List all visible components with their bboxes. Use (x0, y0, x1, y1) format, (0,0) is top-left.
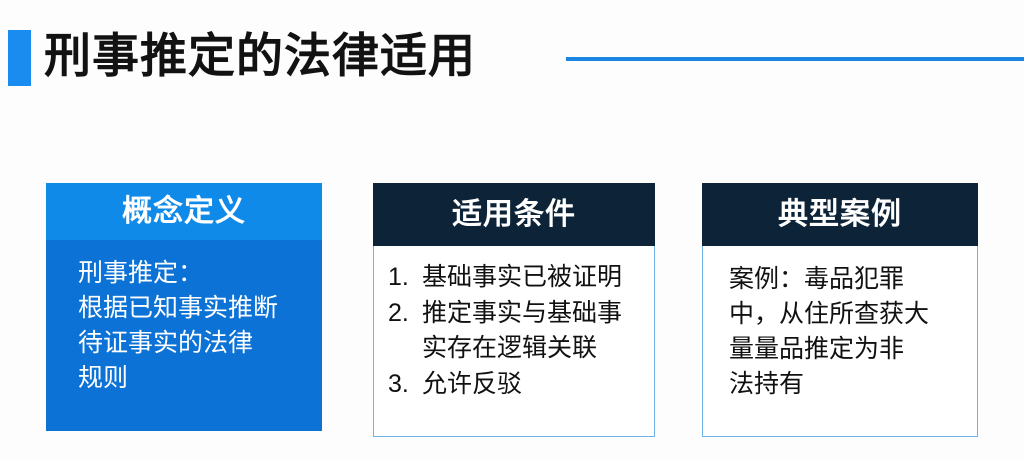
list-item-line: 推定事实与基础事 (422, 296, 646, 331)
card-concept-header: 概念定义 (46, 183, 322, 240)
card-concept-line: 根据已知事实推断 (78, 291, 310, 326)
list-item: 1. 基础事实已被证明 (388, 260, 646, 295)
card-concept-body: 刑事推定： 根据已知事实推断 待证事实的法律 规则 (46, 240, 322, 431)
card-case-body: 案例：毒品犯罪 中，从住所查获大 量量品推定为非 法持有 (702, 246, 978, 437)
title-accent-square (8, 30, 31, 86)
slide-title-row: 刑事推定的法律适用 (0, 26, 1024, 90)
page-title: 刑事推定的法律适用 (44, 24, 476, 88)
card-concept-line: 规则 (78, 361, 310, 396)
list-item-text: 基础事实已被证明 (422, 260, 646, 295)
list-item-number: 3. (388, 367, 422, 402)
list-item-text: 允许反驳 (422, 367, 646, 402)
card-case-line: 案例：毒品犯罪 (729, 262, 969, 297)
card-concept-line: 待证事实的法律 (78, 326, 310, 361)
card-conditions: 适用条件 1. 基础事实已被证明 2. 推定事实与基础事 实存在逻辑关联 (373, 183, 655, 437)
card-conditions-body: 1. 基础事实已被证明 2. 推定事实与基础事 实存在逻辑关联 3. 允许反驳 (373, 246, 655, 437)
list-item-number: 1. (388, 260, 422, 295)
list-item-line: 允许反驳 (422, 367, 646, 402)
list-item: 2. 推定事实与基础事 实存在逻辑关联 (388, 296, 646, 366)
card-case-line: 法持有 (729, 367, 969, 402)
card-case-line: 量量品推定为非 (729, 332, 969, 367)
card-case-line: 中，从住所查获大 (729, 297, 969, 332)
card-case: 典型案例 案例：毒品犯罪 中，从住所查获大 量量品推定为非 法持有 (702, 183, 978, 437)
slide-canvas: 刑事推定的法律适用 概念定义 刑事推定： 根据已知事实推断 待证事实的法律 规则… (0, 0, 1024, 460)
list-item-line: 基础事实已被证明 (422, 260, 646, 295)
card-concept-line: 刑事推定： (78, 256, 310, 291)
list-item-line: 实存在逻辑关联 (422, 331, 646, 366)
card-concept: 概念定义 刑事推定： 根据已知事实推断 待证事实的法律 规则 (46, 183, 322, 431)
list-item: 3. 允许反驳 (388, 367, 646, 402)
list-item-number: 2. (388, 296, 422, 366)
list-item-text: 推定事实与基础事 实存在逻辑关联 (422, 296, 646, 366)
title-divider-line (566, 57, 1024, 61)
card-case-header: 典型案例 (702, 183, 978, 246)
card-conditions-header: 适用条件 (373, 183, 655, 246)
conditions-list: 1. 基础事实已被证明 2. 推定事实与基础事 实存在逻辑关联 3. 允许反驳 (374, 246, 654, 402)
case-text-block: 案例：毒品犯罪 中，从住所查获大 量量品推定为非 法持有 (703, 246, 977, 402)
